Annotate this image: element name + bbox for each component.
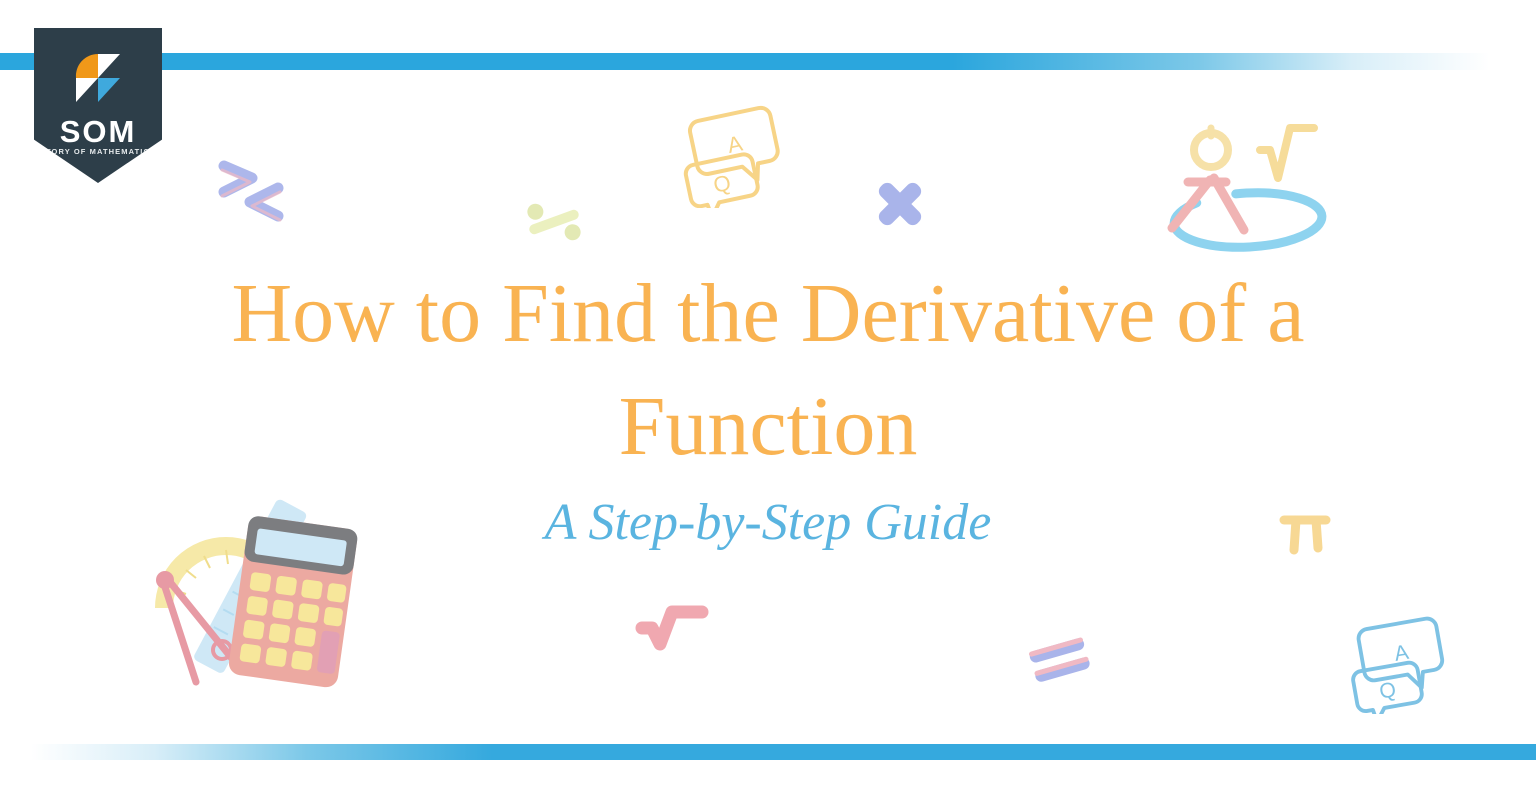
qa-speech-bubbles-yellow-icon: A Q (678, 104, 792, 208)
square-root-pink-icon (632, 592, 712, 656)
som-logo-badge[interactable]: SOM STORY OF MATHEMATICS (34, 28, 162, 183)
greater-less-than-icon (208, 148, 294, 232)
svg-text:Q: Q (711, 170, 733, 198)
qa-speech-bubbles-blue-icon: A Q (1346, 614, 1456, 714)
division-percent-icon (522, 190, 586, 254)
svg-text:Q: Q (1378, 678, 1398, 704)
multiply-x-icon (868, 172, 932, 236)
top-accent-bar (0, 53, 1536, 70)
som-logo-tagline: STORY OF MATHEMATICS (34, 148, 162, 156)
page-subtitle: A Step-by-Step Guide (160, 492, 1376, 554)
equals-icon (1022, 630, 1098, 692)
square-root-yellow-icon (1260, 128, 1314, 178)
page-title: How to Find the Derivative of a Function (160, 258, 1376, 483)
bottom-accent-bar (0, 744, 1536, 760)
compass-circle-icon (1148, 112, 1344, 264)
som-logo-text: SOM (34, 116, 162, 147)
som-logo-mark-icon (70, 50, 126, 106)
